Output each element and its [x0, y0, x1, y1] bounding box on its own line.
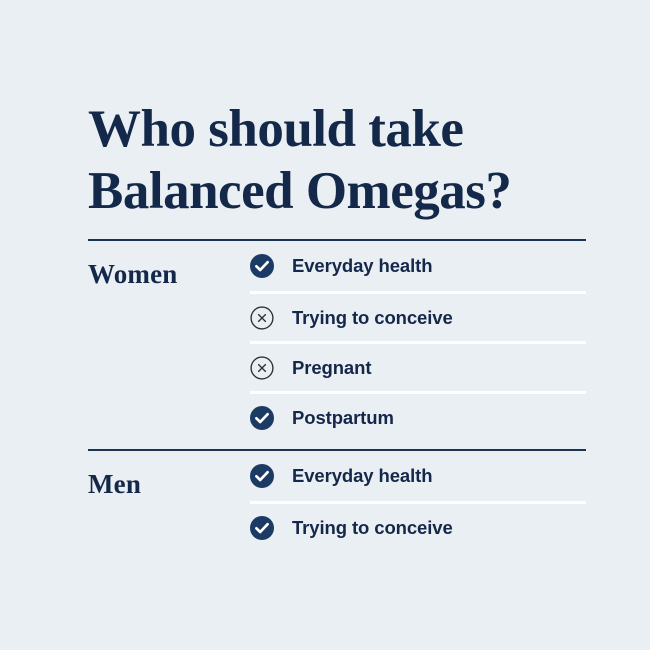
table-row: Everyday health	[250, 241, 586, 291]
cross-circle-outline-icon	[250, 356, 274, 380]
table-section-inner: MenEveryday healthTrying to conceive	[88, 451, 586, 559]
check-circle-filled-icon	[250, 464, 274, 488]
table-row: Pregnant	[250, 341, 586, 391]
check-circle-filled-icon	[250, 254, 274, 278]
page-title-line-2: Balanced Omegas?	[88, 160, 588, 222]
table-section-inner: WomenEveryday healthTrying to conceivePr…	[88, 241, 586, 449]
row-label: Trying to conceive	[292, 516, 453, 540]
infographic-card: Who should take Balanced Omegas? WomenEv…	[0, 0, 650, 650]
row-label: Everyday health	[292, 254, 432, 278]
table-row: Trying to conceive	[250, 501, 586, 551]
check-circle-filled-icon	[250, 406, 274, 430]
table-row: Trying to conceive	[250, 291, 586, 341]
table-row: Everyday health	[250, 451, 586, 501]
cross-circle-outline-icon	[250, 306, 274, 330]
check-circle-filled-icon	[250, 516, 274, 540]
row-label: Pregnant	[292, 356, 371, 380]
section-spacer	[250, 551, 586, 559]
suitability-table: WomenEveryday healthTrying to conceivePr…	[88, 239, 586, 559]
table-section-women: WomenEveryday healthTrying to conceivePr…	[88, 239, 586, 449]
section-spacer	[250, 441, 586, 449]
page-title-line-1: Who should take	[88, 98, 588, 160]
table-section-men: MenEveryday healthTrying to conceive	[88, 449, 586, 559]
section-rows: Everyday healthTrying to conceive	[250, 451, 586, 559]
section-label: Men	[88, 451, 250, 500]
row-label: Everyday health	[292, 464, 432, 488]
table-row: Postpartum	[250, 391, 586, 441]
page-title: Who should take Balanced Omegas?	[88, 98, 588, 222]
section-rows: Everyday healthTrying to conceivePregnan…	[250, 241, 586, 449]
section-label: Women	[88, 241, 250, 290]
row-label: Trying to conceive	[292, 306, 453, 330]
row-label: Postpartum	[292, 406, 394, 430]
